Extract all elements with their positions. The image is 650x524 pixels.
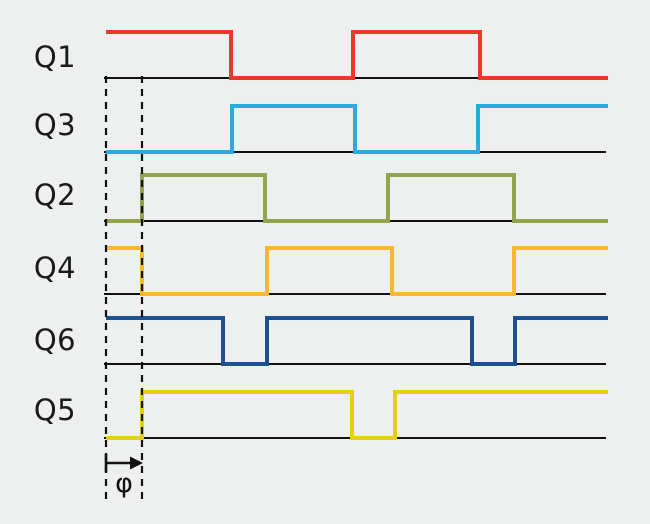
waveform-q6 [106, 318, 608, 364]
row-label-q5: Q5 [34, 393, 76, 427]
row-label-q2: Q2 [34, 178, 76, 212]
row-label-q1: Q1 [34, 40, 76, 74]
waveform-group [106, 32, 608, 438]
timing-diagram-canvas: Q1Q3Q2Q4Q6Q5 φ [0, 0, 650, 524]
timing-diagram-figure: Q1Q3Q2Q4Q6Q5 φ [0, 0, 650, 524]
row-label-q4: Q4 [34, 251, 76, 285]
row-label-group: Q1Q3Q2Q4Q6Q5 [34, 40, 76, 427]
waveform-q2 [106, 175, 608, 221]
waveform-q4 [106, 248, 608, 294]
row-label-q6: Q6 [34, 323, 76, 357]
row-label-q3: Q3 [34, 108, 76, 142]
waveform-q3 [106, 106, 608, 152]
waveform-q5 [106, 392, 608, 438]
waveform-q1 [106, 32, 608, 78]
phase-shift-label: φ [115, 468, 133, 499]
